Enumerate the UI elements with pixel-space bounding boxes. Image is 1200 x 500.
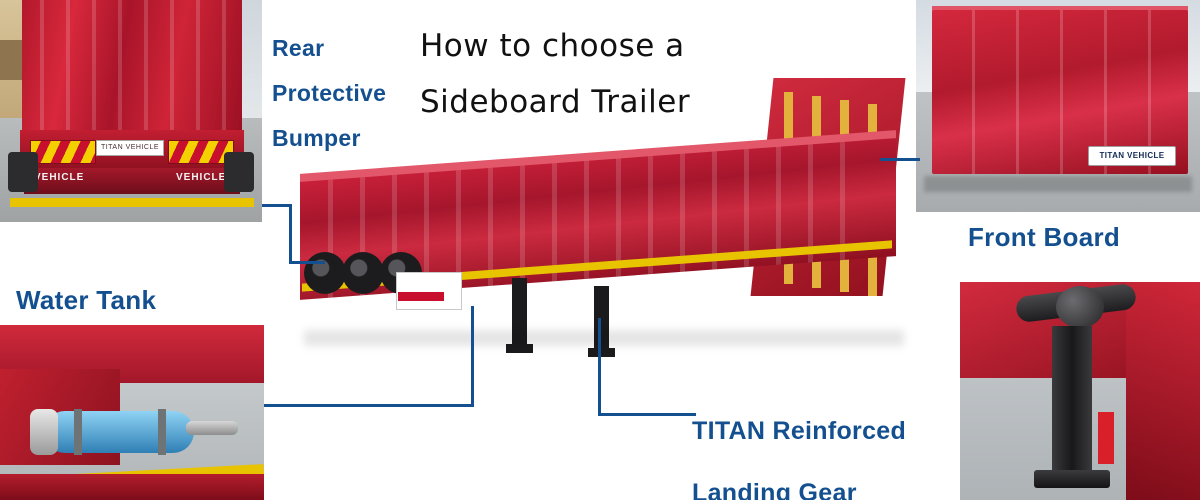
front-photo-shadow xyxy=(924,176,1192,192)
main-trailer-mudflap xyxy=(396,272,462,310)
main-trailer-mudflap-stripe xyxy=(398,292,444,301)
water-tank-photo xyxy=(0,325,264,500)
axle-wheel-2 xyxy=(342,252,384,294)
hazard-stripe-left xyxy=(30,140,96,164)
page-title: How to choose a Sideboard Trailer xyxy=(420,18,780,130)
landing-gear-leg xyxy=(1052,326,1092,476)
connector-gear-v xyxy=(598,318,601,416)
gear-photo-chassis-right xyxy=(1126,282,1200,500)
label-landing-gear: TITAN Reinforced Landing Gear xyxy=(692,400,906,500)
connector-rear-v xyxy=(289,204,292,264)
rear-word-left: VEHICLE xyxy=(34,172,84,183)
water-tank-cylinder xyxy=(44,411,194,453)
rear-trailer-body xyxy=(22,0,242,130)
landing-leg-2-foot xyxy=(588,348,615,357)
rear-protective-bumper-photo: TITAN VEHICLE VEHICLE VEHICLE xyxy=(0,0,262,222)
connector-rear-h2 xyxy=(289,261,325,264)
main-trailer-shadow xyxy=(304,330,904,346)
rear-wheel-left xyxy=(8,152,38,192)
label-front-board: Front Board xyxy=(968,222,1120,253)
water-tank-cap xyxy=(30,409,58,455)
connector-water-v xyxy=(471,306,474,407)
rear-brand-plate: TITAN VEHICLE xyxy=(96,140,164,156)
landing-gear-red-tag xyxy=(1098,412,1114,464)
connector-front-h xyxy=(880,158,920,161)
landing-gear-gearbox xyxy=(1056,286,1104,328)
water-tank-strap-1 xyxy=(74,409,82,455)
water-photo-red-beam xyxy=(0,474,264,500)
landing-gear-photo xyxy=(960,282,1200,500)
label-rear-protective-bumper: Rear Protective Bumper xyxy=(272,26,386,161)
front-brand-plate: TITAN VEHICLE xyxy=(1088,146,1176,166)
poster-canvas: How to choose a Sideboard Trailer TITAN … xyxy=(0,0,1200,500)
axle-wheel-1 xyxy=(304,252,346,294)
rear-yellow-bar xyxy=(10,198,254,207)
water-tank-pipe xyxy=(186,421,238,435)
connector-water-h xyxy=(264,404,474,407)
label-water-tank: Water Tank xyxy=(16,285,156,316)
rear-word-right: VEHICLE xyxy=(176,172,226,183)
rear-wheel-right xyxy=(224,152,254,192)
connector-rear-h1 xyxy=(262,204,292,207)
front-board-photo: TITAN VEHICLE xyxy=(916,0,1200,212)
landing-gear-foot-pad xyxy=(1034,470,1110,488)
connector-gear-h xyxy=(598,413,696,416)
water-tank-strap-2 xyxy=(158,409,166,455)
